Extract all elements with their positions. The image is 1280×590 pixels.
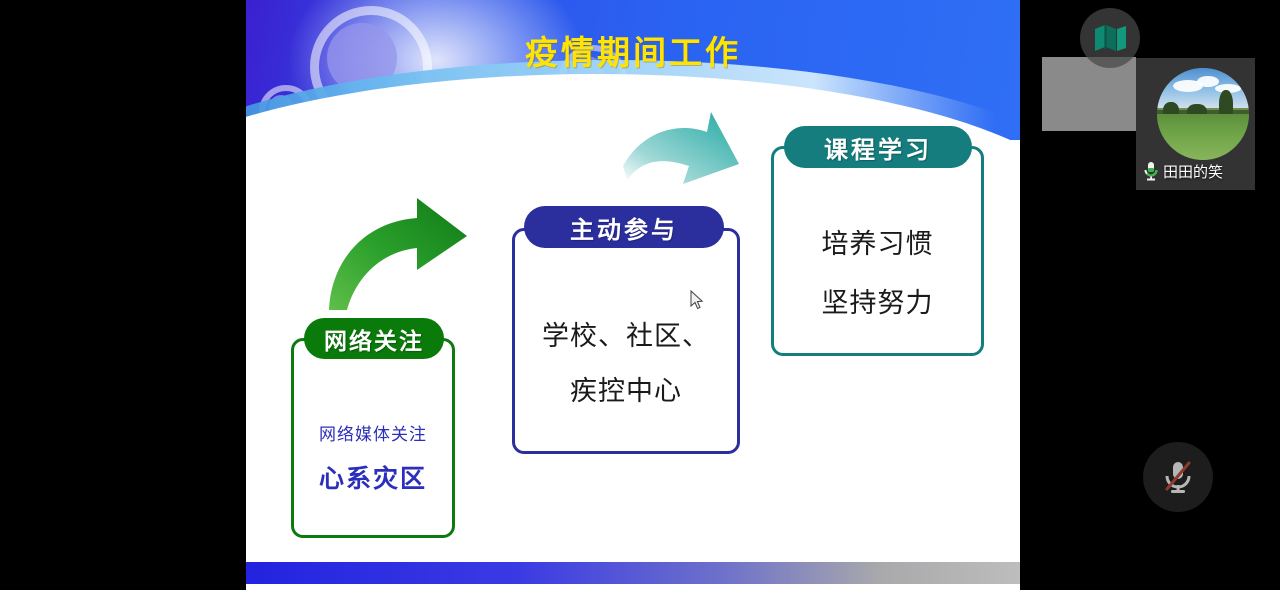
video-placeholder-panel	[1042, 57, 1136, 131]
box-green-line-1: 网络媒体关注	[319, 420, 427, 445]
concept-box-active-participation[interactable]: 学校、社区、 疾控中心	[512, 228, 740, 454]
screen-share-meeting-window: 疫情期间工作	[0, 0, 1280, 590]
share-screen-icon	[1093, 23, 1127, 53]
concept-box-course-study[interactable]: 培养习惯 坚持努力	[771, 146, 984, 356]
participant-name-row: 田田的笑	[1142, 160, 1223, 182]
concept-box-indigo-header: 主动参与	[524, 206, 724, 248]
concept-box-network-attention[interactable]: 网络媒体关注 心系灾区	[291, 338, 455, 538]
mute-toggle-button[interactable]	[1143, 442, 1213, 512]
box-teal-line-1: 培养习惯	[822, 222, 934, 261]
avatar	[1157, 68, 1249, 160]
arrow-cursor	[690, 290, 704, 310]
microphone-icon	[1142, 160, 1160, 182]
concept-box-teal-header: 课程学习	[784, 126, 972, 168]
teal-arrow-icon	[621, 110, 741, 210]
slide-title: 疫情期间工作	[246, 26, 1020, 74]
box-green-line-2: 心系灾区	[319, 459, 427, 495]
participant-tile[interactable]: 田田的笑	[1136, 58, 1255, 190]
microphone-muted-icon	[1161, 457, 1195, 497]
box-indigo-line-2: 疾控中心	[570, 369, 682, 408]
share-screen-button[interactable]	[1080, 8, 1140, 68]
box-teal-line-2: 坚持努力	[822, 281, 934, 320]
green-arrow-icon	[321, 192, 471, 312]
slide-diagram: 网络媒体关注 心系灾区 网络关注 学校、社区、 疾控中心 主动参与 培养习惯 坚…	[246, 222, 1020, 562]
slide-footer-bar	[246, 562, 1020, 584]
box-indigo-line-1: 学校、社区、	[542, 314, 710, 353]
concept-box-green-header: 网络关注	[304, 318, 444, 359]
participant-name: 田田的笑	[1163, 161, 1223, 182]
shared-slide[interactable]: 疫情期间工作	[246, 0, 1020, 590]
